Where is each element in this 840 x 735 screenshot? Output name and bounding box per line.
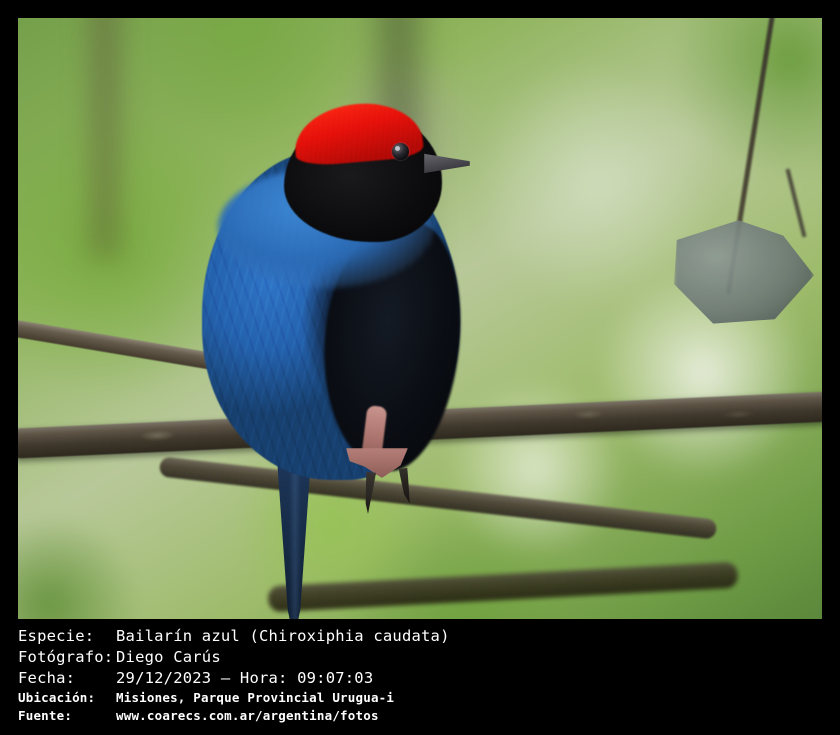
caption-row-fotografo: Fotógrafo: Diego Carús xyxy=(18,647,698,668)
value-fotografo: Diego Carús xyxy=(116,647,698,668)
caption-row-fecha: Fecha: 29/12/2023 — Hora: 09:07:03 xyxy=(18,668,698,689)
label-fuente: Fuente: xyxy=(18,707,116,725)
caption-row-especie: Especie: Bailarín azul (Chiroxiphia caud… xyxy=(18,626,698,647)
bird-claw-back xyxy=(399,468,413,505)
label-fotografo: Fotógrafo: xyxy=(18,647,116,668)
value-especie: Bailarín azul (Chiroxiphia caudata) xyxy=(116,626,698,647)
photograph-frame xyxy=(18,18,822,619)
caption-rows: Especie: Bailarín azul (Chiroxiphia caud… xyxy=(18,626,698,725)
bird-beak xyxy=(424,152,470,174)
blue-manakin-bird xyxy=(196,90,466,610)
caption-row-ubicacion: Ubicación: Misiones, Parque Provincial U… xyxy=(18,689,698,707)
label-fecha: Fecha: xyxy=(18,668,116,689)
screenshot-root: Especie: Bailarín azul (Chiroxiphia caud… xyxy=(0,0,840,735)
value-ubicacion: Misiones, Parque Provincial Urugua-i xyxy=(116,689,698,707)
caption-row-fuente: Fuente: www.coarecs.com.ar/argentina/fot… xyxy=(18,707,698,725)
label-especie: Especie: xyxy=(18,626,116,647)
caption-panel: Especie: Bailarín azul (Chiroxiphia caud… xyxy=(0,620,840,735)
bird-eye xyxy=(392,143,409,160)
blurred-trunk-left xyxy=(82,18,128,258)
value-fecha: 29/12/2023 — Hora: 09:07:03 xyxy=(116,668,698,689)
label-ubicacion: Ubicación: xyxy=(18,689,116,707)
bird-photograph xyxy=(18,18,822,619)
value-fuente[interactable]: www.coarecs.com.ar/argentina/fotos xyxy=(116,707,698,725)
